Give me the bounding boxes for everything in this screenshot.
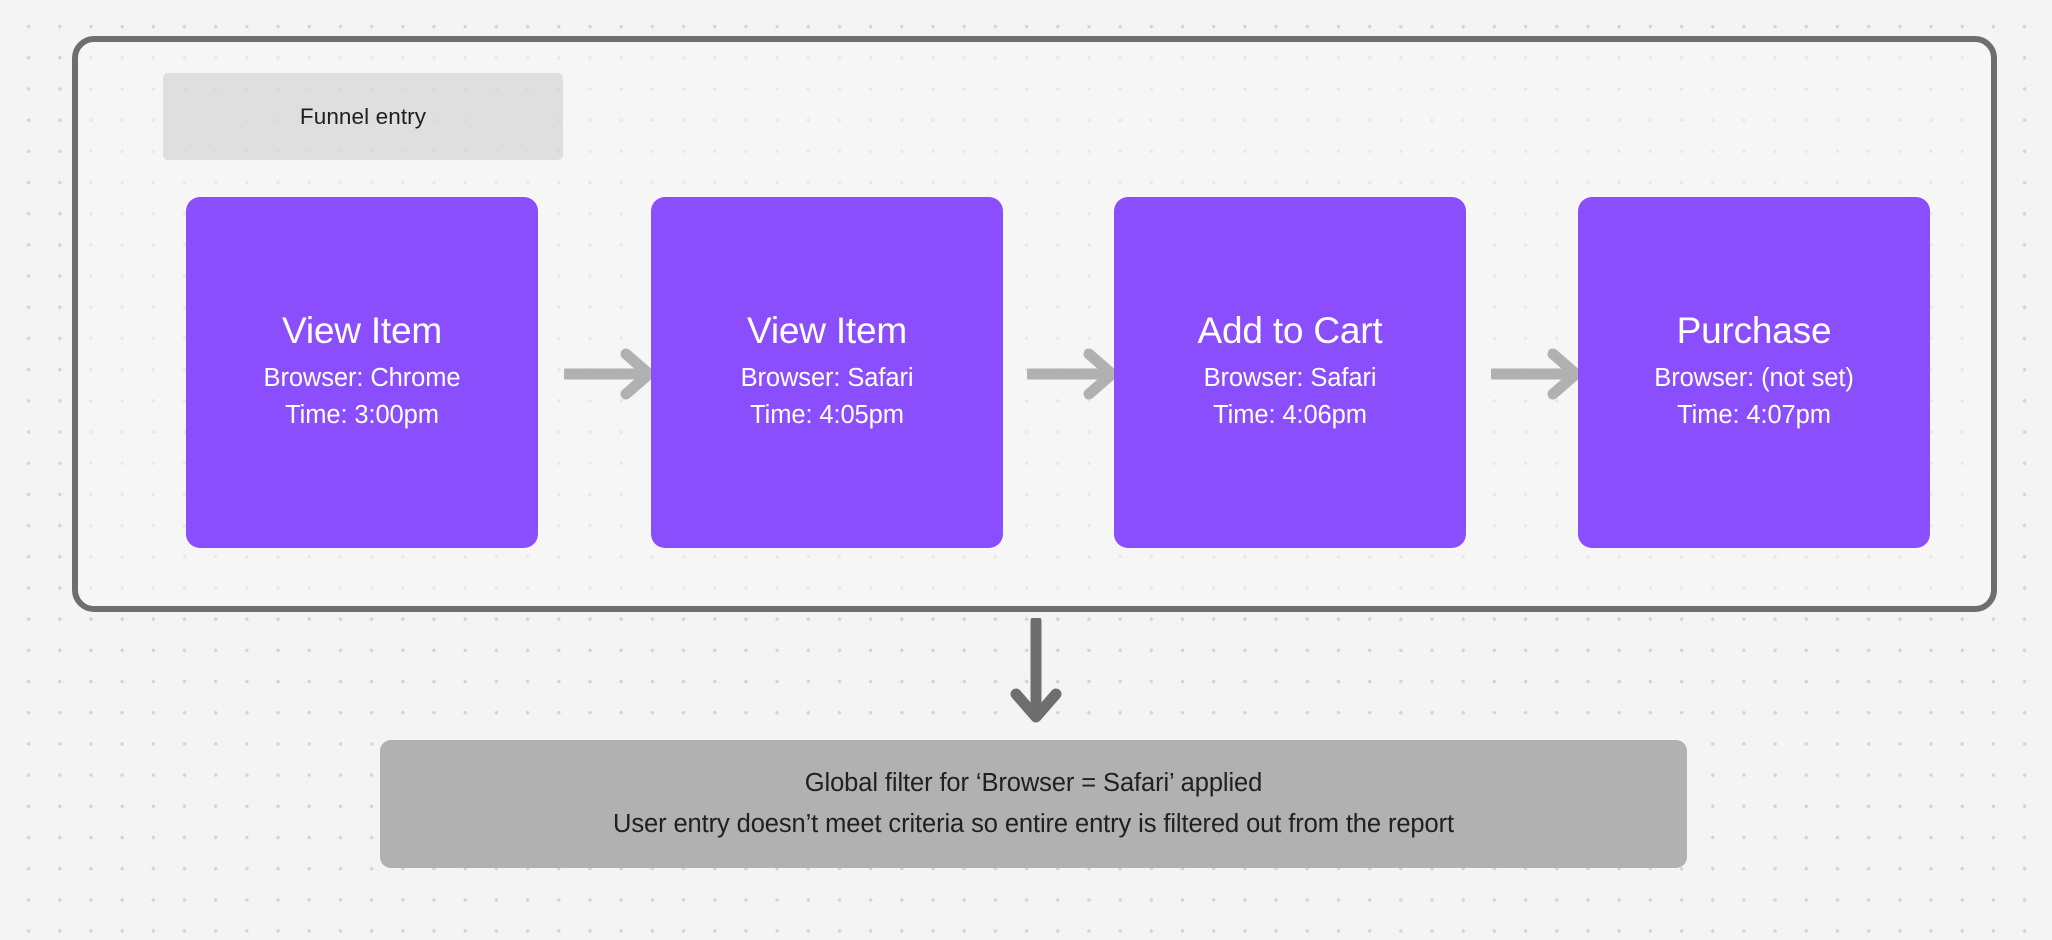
diagram-canvas: Funnel entry View Item Browser: Chrome T… bbox=[0, 0, 2052, 940]
step-browser: Browser: Chrome bbox=[264, 360, 461, 397]
funnel-entry-label: Funnel entry bbox=[163, 73, 563, 160]
step-arrow-right-icon bbox=[1491, 348, 1585, 400]
step-title: Purchase bbox=[1677, 311, 1832, 350]
funnel-step-card-1[interactable]: View Item Browser: Chrome Time: 3:00pm bbox=[186, 197, 538, 548]
step-browser: Browser: Safari bbox=[741, 360, 914, 397]
funnel-step-card-4[interactable]: Purchase Browser: (not set) Time: 4:07pm bbox=[1578, 197, 1930, 548]
step-title: View Item bbox=[282, 311, 442, 350]
step-browser: Browser: (not set) bbox=[1654, 360, 1853, 397]
funnel-step-card-2[interactable]: View Item Browser: Safari Time: 4:05pm bbox=[651, 197, 1003, 548]
flow-arrow-down-icon bbox=[1010, 618, 1062, 725]
funnel-entry-label-text: Funnel entry bbox=[300, 104, 426, 130]
step-arrow-right-icon bbox=[1027, 348, 1121, 400]
step-browser: Browser: Safari bbox=[1204, 360, 1377, 397]
step-time: Time: 4:06pm bbox=[1213, 397, 1367, 434]
step-time: Time: 3:00pm bbox=[285, 397, 439, 434]
step-title: Add to Cart bbox=[1198, 311, 1383, 350]
filter-note-line-2: User entry doesn’t meet criteria so enti… bbox=[613, 804, 1454, 845]
global-filter-note: Global filter for ‘Browser = Safari’ app… bbox=[380, 740, 1687, 868]
filter-note-line-1: Global filter for ‘Browser = Safari’ app… bbox=[805, 763, 1262, 804]
step-time: Time: 4:05pm bbox=[750, 397, 904, 434]
funnel-step-card-3[interactable]: Add to Cart Browser: Safari Time: 4:06pm bbox=[1114, 197, 1466, 548]
step-time: Time: 4:07pm bbox=[1677, 397, 1831, 434]
step-arrow-right-icon bbox=[564, 348, 658, 400]
step-title: View Item bbox=[747, 311, 907, 350]
